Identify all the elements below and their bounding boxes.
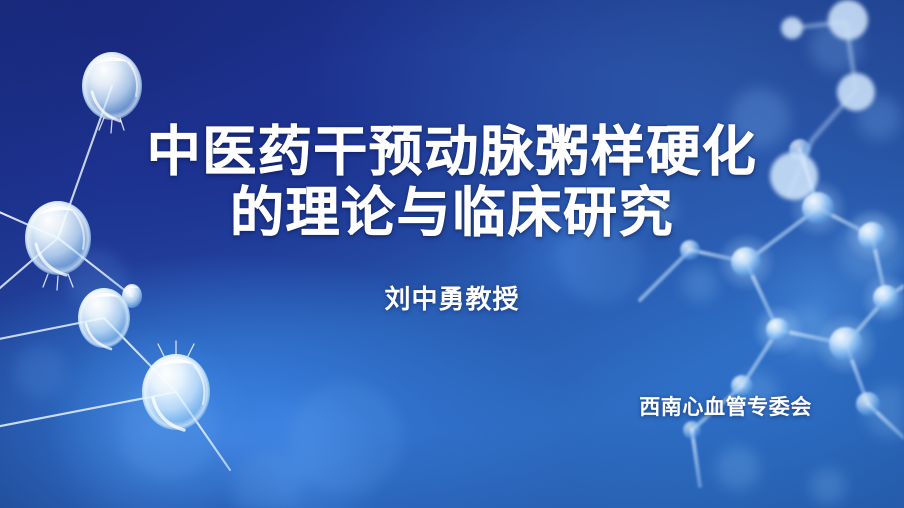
title-line-2: 的理论与临床研究 [0, 183, 904, 244]
slide-title: 中医药干预动脉粥样硬化 的理论与临床研究 [0, 122, 904, 244]
water-drop-molecule-cluster [0, 0, 904, 508]
presentation-slide: 中医药干预动脉粥样硬化 的理论与临床研究 刘中勇教授 西南心血管专委会 [0, 0, 904, 508]
slide-subtitle-presenter: 刘中勇教授 [0, 283, 904, 315]
title-line-1: 中医药干预动脉粥样硬化 [0, 122, 904, 183]
slide-footer-organization: 西南心血管专委会 [639, 394, 812, 421]
